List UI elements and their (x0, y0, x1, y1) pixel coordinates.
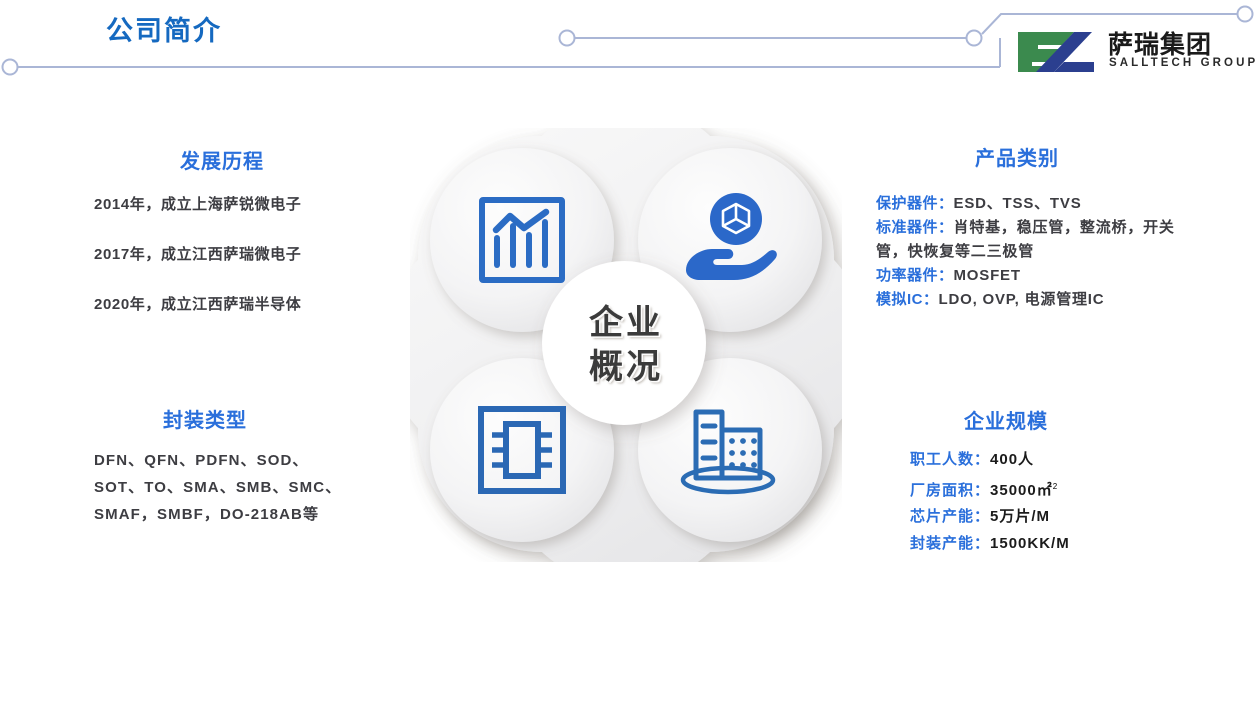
salltech-logo-icon (1012, 28, 1100, 76)
scale-value: 35000㎡ (990, 482, 1053, 499)
section-title-package: 封装类型 (163, 404, 247, 433)
product-label: 模拟IC： (876, 291, 939, 308)
header-node-mid (560, 31, 575, 46)
scale-label: 厂房面积： (910, 482, 990, 499)
logo-name-cn: 萨瑞集团 (1108, 25, 1212, 61)
list-item: 2017年，成立江西萨瑞微电子 (94, 243, 394, 264)
list-item: 厂房面积：35000㎡2 (910, 474, 1210, 505)
logo-name-en: SALLTECH GROUP (1109, 57, 1256, 69)
header-node-right (1238, 7, 1253, 22)
list-item: 芯片产能：5万片/M (910, 504, 1210, 531)
scale-value: 5万片/M (990, 508, 1050, 525)
company-overview-diagram: 企业 概况 (410, 128, 842, 562)
product-category-list: 保护器件：ESD、TSS、TVS 标准器件：肖特基，稳压管，整流桥，开关管，快恢… (876, 192, 1196, 312)
company-scale-list: 职工人数：400人 厂房面积：35000㎡2 芯片产能：5万片/M 封装产能：1… (910, 447, 1210, 557)
section-title-product: 产品类别 (975, 142, 1059, 171)
clover-graphic (410, 128, 842, 562)
product-value: LDO, OVP, 电源管理IC (939, 291, 1105, 308)
page-title: 公司简介 (106, 9, 222, 48)
scale-label: 芯片产能： (910, 508, 990, 525)
list-item: 2020年，成立江西萨瑞半导体 (94, 293, 394, 314)
section-title-scale: 企业规模 (964, 405, 1048, 434)
product-value: MOSFET (954, 267, 1021, 284)
header-node-left (3, 60, 18, 75)
history-list: 2014年，成立上海萨锐微电子 2017年，成立江西萨瑞微电子 2020年，成立… (94, 193, 394, 343)
scale-label: 职工人数： (910, 451, 990, 468)
scale-value-superscript: 2 (1053, 482, 1057, 491)
product-label: 功率器件： (876, 267, 954, 284)
product-value: ESD、TSS、TVS (954, 195, 1082, 212)
scale-value: 1500KK/M (990, 535, 1070, 552)
center-circle (542, 261, 706, 425)
list-item: 模拟IC：LDO, OVP, 电源管理IC (876, 288, 1196, 312)
list-item: 保护器件：ESD、TSS、TVS (876, 192, 1196, 216)
package-type-text: DFN、QFN、PDFN、SOD、SOT、TO、SMA、SMB、SMC、SMAF… (94, 447, 344, 528)
header-node-junction (967, 31, 982, 46)
scale-label: 封装产能： (910, 535, 990, 552)
list-item: 功率器件：MOSFET (876, 264, 1196, 288)
brand-logo: 萨瑞集团 SALLTECH GROUP (1012, 26, 1242, 78)
section-title-history: 发展历程 (180, 145, 264, 174)
list-item: 职工人数：400人 (910, 447, 1210, 474)
list-item: 2014年，成立上海萨锐微电子 (94, 193, 394, 214)
scale-value: 400人 (990, 451, 1034, 468)
product-label: 保护器件： (876, 195, 954, 212)
list-item: 封装产能：1500KK/M (910, 531, 1210, 558)
list-item: 标准器件：肖特基，稳压管，整流桥，开关管，快恢复等二三极管 (876, 216, 1196, 264)
product-label: 标准器件： (876, 219, 954, 236)
